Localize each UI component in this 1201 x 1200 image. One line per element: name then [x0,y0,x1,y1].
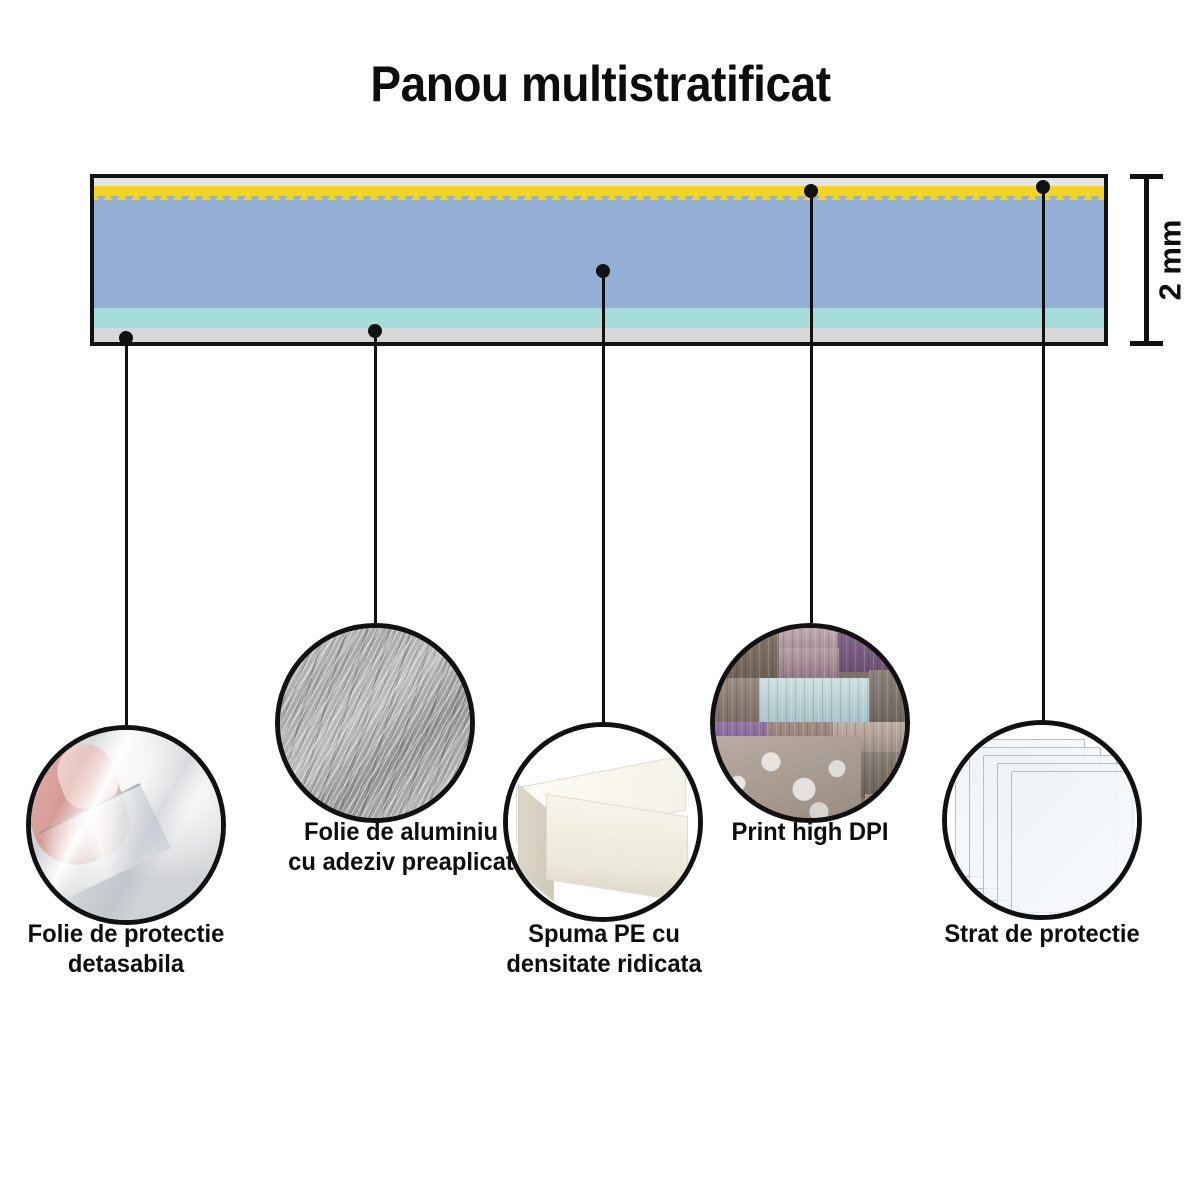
layer-bottom-film-gray [94,328,1104,342]
layer-core-foam-blue [94,200,1104,308]
pe-foam-block-icon [508,727,698,917]
layer-top-protective-gray [94,178,1104,186]
page-title: Panou multistratificat [48,55,1153,113]
leader-line-protective-coating [1042,187,1045,727]
callout-label-peel-film: Folie de protectie detasabila [6,920,245,979]
thickness-dimension-label: 2 mm [1150,174,1190,346]
sheet [1011,771,1142,919]
dimension-bar [1144,174,1149,346]
leader-line-high-dpi-print [810,191,813,623]
callout-label-high-dpi-print: Print high DPI [706,818,915,848]
wave-edge-over-teal [94,304,1104,312]
callout-circle-pe-foam[interactable] [503,722,703,922]
callout-circle-aluminium-foil[interactable] [275,623,475,823]
plank [837,623,910,672]
callout-label-protective-coating: Strat de protectie [919,920,1166,950]
hand-peeling-film-icon [31,730,221,920]
stacked-sheets-icon [947,725,1137,915]
plank [755,678,873,724]
plank [779,648,839,682]
leader-line-peel-film [125,338,128,732]
ornamental-carved-panel [711,736,861,822]
leader-line-pe-foam [602,271,605,729]
plank [710,678,759,726]
callout-circle-high-dpi-print[interactable] [710,623,910,823]
wood-plank-collage-icon [715,628,905,818]
brushed-aluminium-icon [280,628,470,818]
plank [710,623,783,680]
thickness-dimension-text: 2 mm [1152,220,1188,301]
callout-circle-protective-coating[interactable] [942,720,1142,920]
callout-circle-peel-film[interactable] [26,725,226,925]
plank [869,670,910,724]
callout-label-pe-foam: Spuma PE cu densitate ridicata [485,920,723,979]
leader-line-aluminium-foil [374,331,377,623]
infographic-canvas: Panou multistratificat 2 mm [0,0,1201,1200]
plank [779,623,841,650]
panel-cross-section [90,174,1108,346]
film-sheen [26,725,226,925]
